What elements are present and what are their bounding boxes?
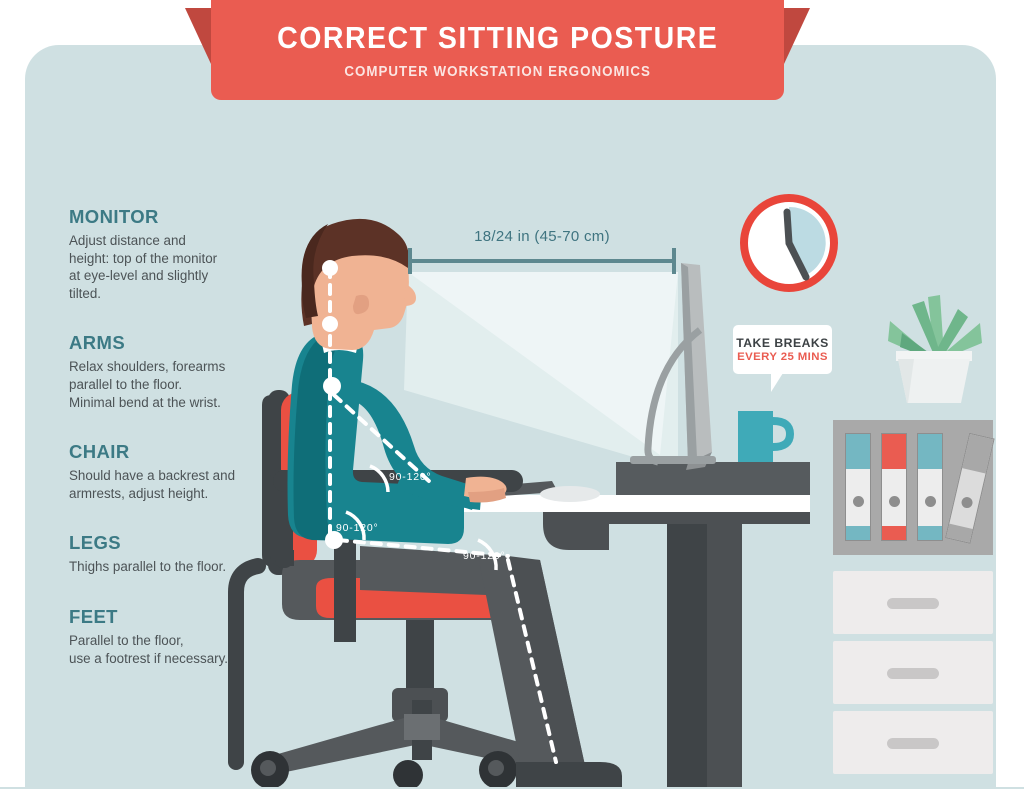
clock-icon — [740, 194, 838, 292]
binder-icon-tilted — [945, 433, 995, 544]
ruler-cap-right — [672, 248, 676, 274]
tip-body: Relax shoulders, forearms parallel to th… — [69, 358, 319, 411]
tip-feet: FEET Parallel to the floor, use a footre… — [69, 606, 319, 667]
potted-plant-icon — [878, 283, 990, 405]
binder-band — [918, 434, 942, 469]
drawer-handle[interactable] — [887, 738, 939, 749]
tip-legs: LEGS Thighs parallel to the floor. — [69, 532, 319, 576]
binder-ring — [925, 496, 936, 507]
binder-band — [882, 526, 906, 540]
tip-heading: MONITOR — [69, 206, 319, 228]
desk-underside — [543, 524, 609, 550]
binder-icon — [881, 433, 907, 541]
binder-band — [962, 434, 993, 474]
caster — [393, 760, 423, 789]
tip-arms: ARMS Relax shoulders, forearms parallel … — [69, 332, 319, 411]
monitor-riser — [616, 462, 810, 495]
desk-leg — [667, 524, 707, 789]
viewing-distance-label: 18/24 in (45-70 cm) — [408, 228, 676, 245]
knee-angle-label: 90-120° — [463, 550, 506, 562]
page-title: CORRECT SITTING POSTURE — [277, 20, 718, 56]
coffee-mug-icon — [738, 411, 790, 462]
binder-band — [882, 434, 906, 469]
binder-band — [946, 524, 973, 543]
break-reminder-line2: EVERY 25 MINS — [737, 351, 828, 363]
tip-body: Parallel to the floor, use a footrest if… — [69, 632, 319, 667]
drawer-handle[interactable] — [887, 668, 939, 679]
tip-heading: FEET — [69, 606, 319, 628]
drawer-icon[interactable] — [833, 571, 993, 634]
binder-ring — [853, 496, 864, 507]
hip-angle-label: 90-120° — [336, 522, 379, 534]
binder-icon — [845, 433, 871, 541]
viewing-distance-ruler — [408, 248, 676, 270]
drawer-handle[interactable] — [887, 598, 939, 609]
page-subtitle: COMPUTER WORKSTATION ERGONOMICS — [344, 64, 651, 80]
bubble-tail — [771, 373, 783, 392]
tip-body: Adjust distance and height: top of the m… — [69, 232, 319, 302]
desk-leg-side — [707, 524, 742, 789]
break-reminder-line1: TAKE BREAKS — [736, 336, 829, 350]
elbow-angle-label: 90-120° — [389, 471, 432, 483]
tip-monitor: MONITOR Adjust distance and height: top … — [69, 206, 319, 302]
tip-body: Thighs parallel to the floor. — [69, 558, 319, 576]
break-reminder-bubble: TAKE BREAKS EVERY 25 MINS — [733, 325, 832, 374]
tips-list: MONITOR Adjust distance and height: top … — [69, 206, 319, 697]
infographic-canvas: 90-120° 90-120° 90-120° CORRECT SITTING … — [0, 0, 1024, 789]
binder-band — [846, 526, 870, 540]
desk-apron — [543, 512, 810, 524]
tip-heading: ARMS — [69, 332, 319, 354]
mouse-icon — [540, 486, 600, 502]
binder-ring — [889, 496, 900, 507]
shelf-with-binders — [833, 420, 993, 555]
shoe — [516, 762, 622, 789]
drawer-icon[interactable] — [833, 711, 993, 774]
tip-heading: LEGS — [69, 532, 319, 554]
banner-ribbon-left — [185, 8, 211, 64]
binder-band — [918, 526, 942, 540]
ruler-cap-left — [408, 248, 412, 274]
binder-band — [846, 434, 870, 469]
banner-ribbon-right — [784, 8, 810, 64]
tip-body: Should have a backrest and armrests, adj… — [69, 467, 319, 502]
ruler-bar — [408, 259, 676, 263]
drawer-icon[interactable] — [833, 641, 993, 704]
tip-heading: CHAIR — [69, 441, 319, 463]
binder-icon — [917, 433, 943, 541]
binder-ring — [960, 496, 973, 509]
title-banner: CORRECT SITTING POSTURE COMPUTER WORKSTA… — [185, 0, 810, 102]
tip-chair: CHAIR Should have a backrest and armrest… — [69, 441, 319, 502]
